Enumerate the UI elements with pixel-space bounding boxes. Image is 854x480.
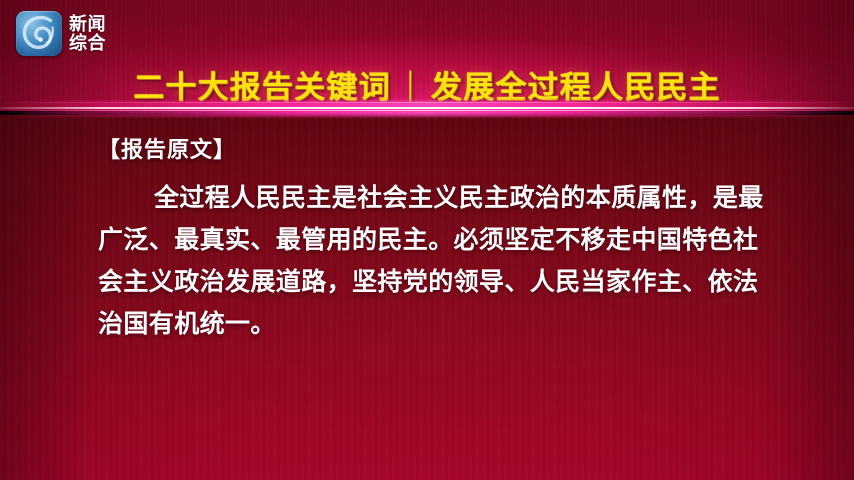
channel-name-line2: 综合 bbox=[69, 34, 106, 52]
swirl-logo-icon bbox=[16, 11, 62, 56]
header-divider bbox=[0, 101, 854, 116]
broadcast-screen: 新闻 综合 二十大报告关键词｜发展全过程人民民主 【报告原文】 全过程人民民主是… bbox=[0, 0, 854, 480]
content-area: 【报告原文】 全过程人民民主是社会主义民主政治的本质属性，是最广泛、最真实、最管… bbox=[0, 115, 854, 480]
page-title-left: 二十大报告关键词 bbox=[133, 70, 391, 105]
page-title-separator: ｜ bbox=[391, 70, 431, 105]
divider-white-line bbox=[0, 107, 854, 109]
channel-name: 新闻 综合 bbox=[69, 15, 106, 52]
excerpt-paragraph: 全过程人民民主是社会主义民主政治的本质属性，是最广泛、最真实、最管用的民主。必须… bbox=[98, 177, 778, 345]
divider-accent-line bbox=[0, 102, 854, 103]
page-title-right: 发展全过程人民民主 bbox=[431, 70, 721, 105]
channel-logo: 新闻 综合 bbox=[16, 11, 106, 56]
channel-name-line1: 新闻 bbox=[69, 15, 106, 33]
divider-pink-line bbox=[0, 110, 854, 111]
excerpt-label: 【报告原文】 bbox=[98, 139, 778, 161]
report-excerpt: 【报告原文】 全过程人民民主是社会主义民主政治的本质属性，是最广泛、最真实、最管… bbox=[98, 139, 778, 345]
